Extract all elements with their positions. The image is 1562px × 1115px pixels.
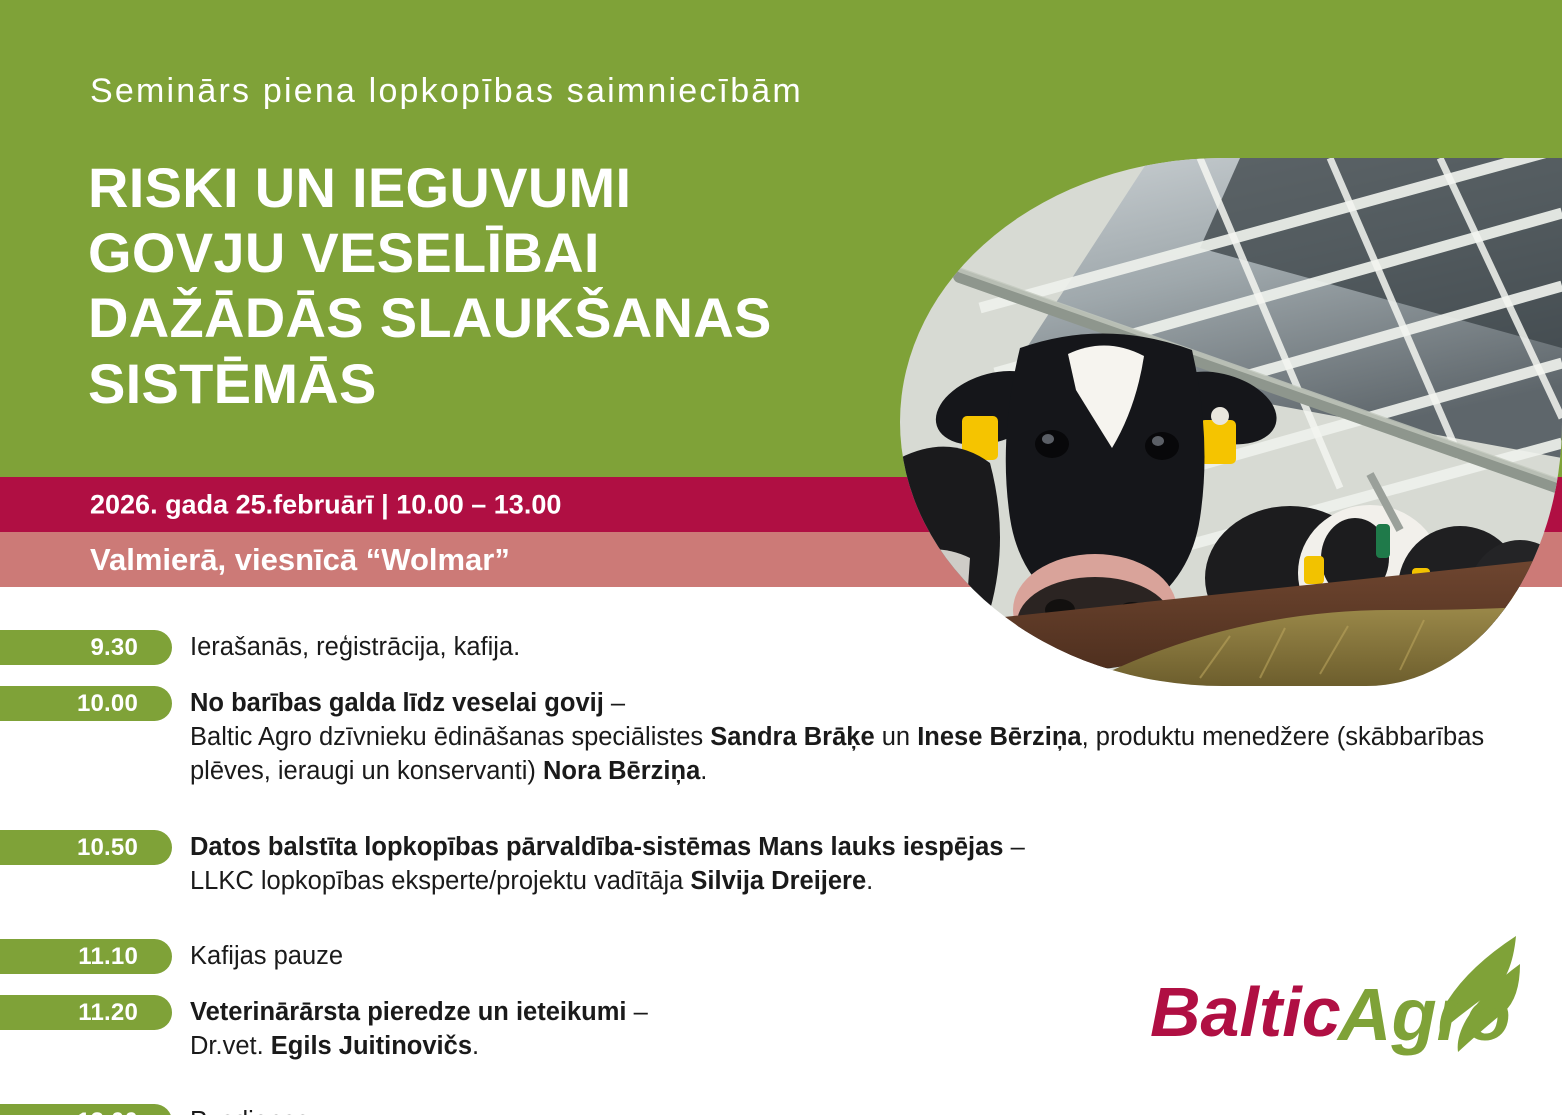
schedule-item-desc-pre: Baltic Agro dzīvnieku ēdināšanas speciāl… [190,723,710,751]
title-line-3: DAŽĀDĀS SLAUKŠANAS [88,285,888,350]
schedule-item-desc-end: . [472,1032,479,1060]
date-text: 2026. gada 25.februārī | 10.00 – 13.00 [90,489,561,520]
title-line-1: RISKI UN IEGUVUMI [88,155,888,220]
speaker-name: Egils Juitinovičs [271,1032,472,1060]
schedule-item-title: No barības galda līdz veselai govij [190,689,604,717]
schedule-item-desc-pre: LLKC lopkopības eksperte/projektu vadītā… [190,867,690,895]
speaker-name: Inese Bērziņa [917,723,1081,751]
schedule-item-plain: Ierašanās, reģistrācija, kafija. [190,633,520,661]
logo-svg: Baltic Agro [1148,928,1528,1058]
schedule-row: 10.00 No barības galda līdz veselai govi… [0,686,1562,816]
time-badge: 10.00 [0,686,172,721]
speaker-name: Nora Bērziņa [543,757,700,785]
time-badge: 11.10 [0,939,172,974]
schedule-item-dash: – [604,689,625,717]
time-badge: 9.30 [0,630,172,665]
schedule-item-desc-pre: Dr.vet. [190,1032,271,1060]
page-title: RISKI UN IEGUVUMI GOVJU VESELĪBAI DAŽĀDĀ… [88,155,888,416]
schedule-row: 13.00 Pusdienas [0,1104,1562,1115]
venue-text: Valmierā, viesnīcā “Wolmar” [90,542,510,578]
schedule-item-plain: Pusdienas [190,1107,309,1115]
schedule-item-dash: – [627,998,648,1026]
schedule-item-text: No barības galda līdz veselai govij – Ba… [190,686,1562,788]
cows-in-barn-photo [900,158,1562,686]
schedule-item-title: Veterinārārsta pieredze un ieteikumi [190,998,627,1026]
time-badge: 10.50 [0,830,172,865]
speaker-name: Silvija Dreijere [690,867,866,895]
poster-root: Seminārs piena lopkopības saimniecībām R… [0,0,1562,1115]
time-badge: 11.20 [0,995,172,1030]
baltic-agro-logo: Baltic Agro [1148,928,1528,1058]
schedule-item-title: Datos balstīta lopkopības pārvaldība-sis… [190,833,1003,861]
speaker-name: Sandra Brāķe [710,723,874,751]
title-line-2: GOVJU VESELĪBAI [88,220,888,285]
schedule-item-plain: Kafijas pauze [190,942,343,970]
kicker-text: Seminārs piena lopkopības saimniecībām [90,72,803,111]
schedule-item-desc-mid1: un [875,723,918,751]
schedule-item-desc-end: . [866,867,873,895]
logo-word-baltic: Baltic [1150,973,1341,1051]
title-line-4: SISTĒMĀS [88,351,888,416]
schedule-item-desc-end: . [700,757,707,785]
photo-illustration [900,158,1562,686]
schedule-row: 10.50 Datos balstīta lopkopības pārvaldī… [0,830,1562,925]
schedule-item-text: Datos balstīta lopkopības pārvaldība-sis… [190,830,1562,898]
time-badge: 13.00 [0,1104,172,1115]
logo-word-agro: Agro [1336,973,1511,1056]
schedule-item-text: Pusdienas [190,1104,1562,1115]
schedule-item-dash: – [1003,833,1024,861]
